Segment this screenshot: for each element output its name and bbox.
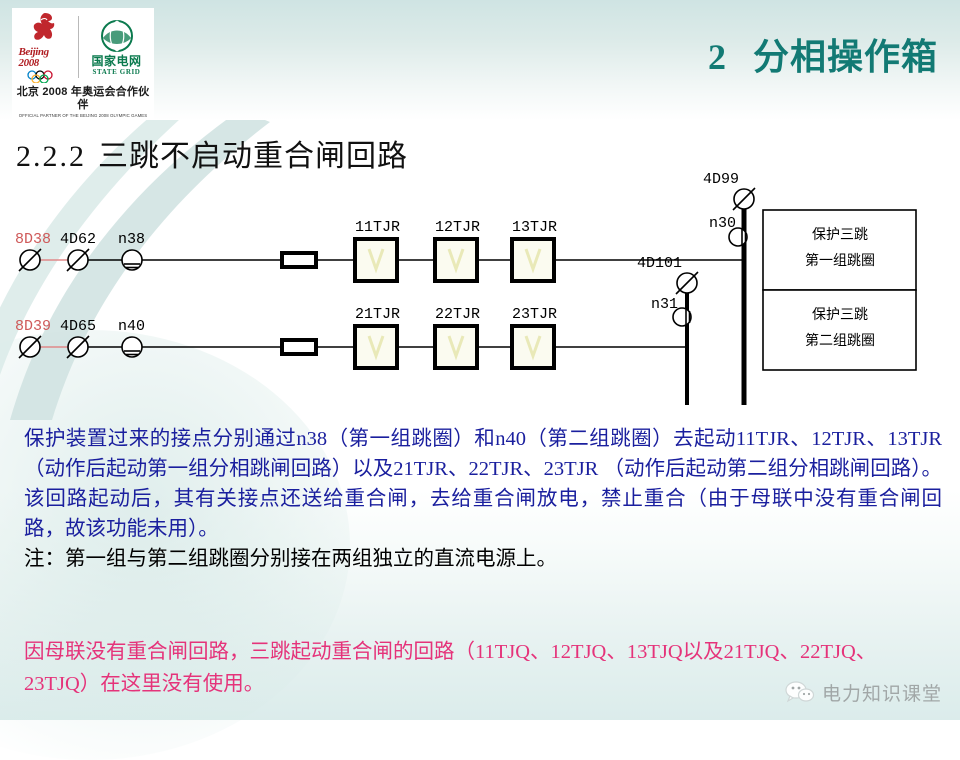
label-4D99: 4D99 bbox=[703, 171, 739, 188]
body-paragraph-1: 保护装置过来的接点分别通过n38（第一组跳圈）和n40（第二组跳圈）去起动11T… bbox=[24, 424, 942, 544]
logo-row: Beijing 2008 国家电网 STATE GRID bbox=[12, 8, 154, 86]
label-12TJR: 12TJR bbox=[435, 219, 480, 236]
terminal-4D65 bbox=[67, 336, 89, 358]
relay-box-12TJR bbox=[435, 239, 477, 281]
terminal-8D38 bbox=[19, 249, 41, 271]
trip-coil-box-1 bbox=[763, 210, 916, 290]
coil-n40 bbox=[122, 337, 142, 357]
trip-box-2-line2: 第二组跳圈 bbox=[805, 332, 875, 348]
relay-box-21TJR bbox=[355, 326, 397, 368]
body-note: 注：第一组与第二组跳圈分别接在两组独立的直流电源上。 bbox=[24, 544, 942, 574]
label-8D38: 8D38 bbox=[15, 231, 51, 248]
state-grid-english-name: STATE GRID bbox=[93, 68, 141, 76]
wechat-icon bbox=[785, 680, 815, 705]
watermark: 电力知识课堂 bbox=[785, 679, 942, 706]
circuit-diagram: 8D38 4D62 n38 11TJR 12TJR 13TJR 8D39 4D6… bbox=[0, 165, 960, 410]
relay-box-23TJR bbox=[512, 326, 554, 368]
trip-box-1-line2: 第一组跳圈 bbox=[805, 252, 875, 268]
trip-box-1-line1: 保护三跳 bbox=[812, 226, 868, 242]
relay-box-13TJR bbox=[512, 239, 554, 281]
page-title-number: 2 bbox=[708, 37, 727, 77]
state-grid-globe-icon bbox=[100, 19, 134, 53]
body-text-block: 保护装置过来的接点分别通过n38（第一组跳圈）和n40（第二组跳圈）去起动11T… bbox=[24, 424, 942, 574]
olympic-partner-chinese-caption: 北京 2008 年奥运会合作伙伴 bbox=[12, 86, 154, 112]
label-8D39: 8D39 bbox=[15, 318, 51, 335]
terminal-8D39 bbox=[19, 336, 41, 358]
logo-divider bbox=[78, 16, 79, 78]
olympic-dancing-beijing-icon bbox=[28, 11, 62, 45]
beijing-2008-wordmark: Beijing 2008 bbox=[19, 47, 71, 69]
coil-n38 bbox=[122, 250, 142, 270]
label-13TJR: 13TJR bbox=[512, 219, 557, 236]
label-4D101: 4D101 bbox=[637, 255, 682, 272]
page-title: 2分相操作箱 bbox=[708, 28, 938, 80]
state-grid-chinese-name: 国家电网 bbox=[91, 55, 141, 68]
label-23TJR: 23TJR bbox=[512, 306, 557, 323]
label-n30: n30 bbox=[709, 215, 736, 232]
label-n38: n38 bbox=[118, 231, 145, 248]
label-11TJR: 11TJR bbox=[355, 219, 400, 236]
contact-block-row1 bbox=[282, 253, 316, 267]
beijing-2008-logo: Beijing 2008 bbox=[19, 11, 71, 83]
terminal-4D101 bbox=[676, 272, 698, 294]
olympic-partner-english-caption: OFFICIAL PARTNER OF THE BEIJING 2008 OLY… bbox=[15, 112, 151, 119]
contact-block-row2 bbox=[282, 340, 316, 354]
trip-box-2-line1: 保护三跳 bbox=[812, 306, 868, 322]
label-n31: n31 bbox=[651, 296, 678, 313]
state-grid-logo: 国家电网 STATE GRID bbox=[86, 19, 148, 76]
circuit-diagram-svg: 8D38 4D62 n38 11TJR 12TJR 13TJR 8D39 4D6… bbox=[0, 165, 960, 410]
terminal-4D62 bbox=[67, 249, 89, 271]
label-n40: n40 bbox=[118, 318, 145, 335]
label-22TJR: 22TJR bbox=[435, 306, 480, 323]
relay-box-11TJR bbox=[355, 239, 397, 281]
label-4D65: 4D65 bbox=[60, 318, 96, 335]
label-4D62: 4D62 bbox=[60, 231, 96, 248]
relay-box-22TJR bbox=[435, 326, 477, 368]
terminal-4D99 bbox=[733, 188, 755, 210]
sponsor-logo-block: Beijing 2008 国家电网 STATE GRID bbox=[12, 8, 154, 120]
bus-bar-2 bbox=[673, 272, 698, 405]
watermark-text: 电力知识课堂 bbox=[822, 679, 942, 706]
trip-coil-box-2 bbox=[763, 290, 916, 370]
page-title-text: 分相操作箱 bbox=[753, 36, 938, 77]
label-21TJR: 21TJR bbox=[355, 306, 400, 323]
olympic-rings-icon bbox=[25, 70, 65, 83]
